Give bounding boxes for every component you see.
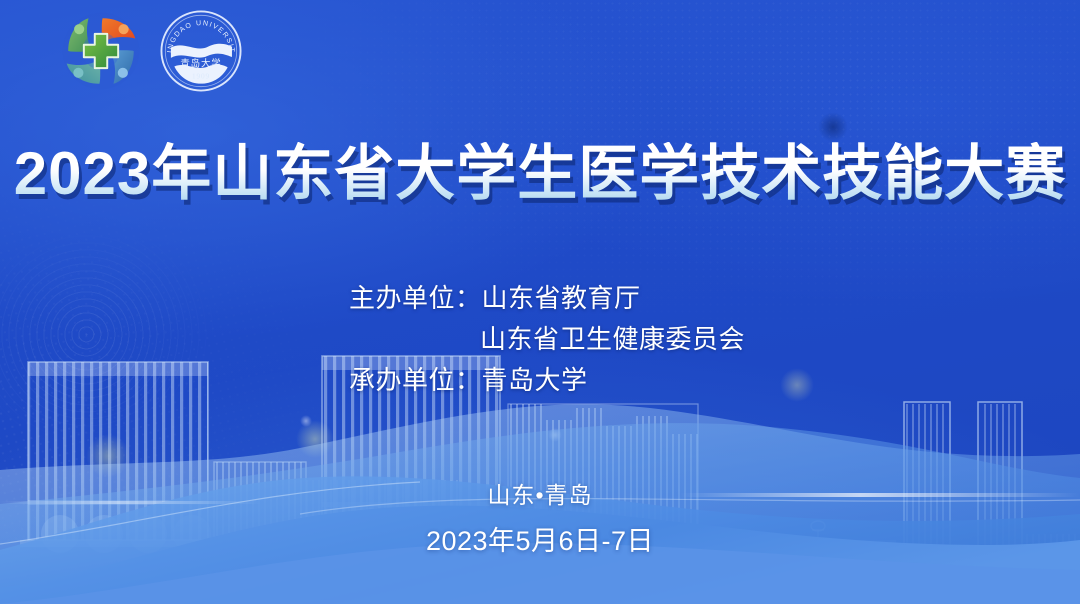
event-dates: 2023年5月6日-7日 xyxy=(0,519,1080,558)
organizer-value-host-2: 山东省卫生健康委员会 xyxy=(480,324,745,354)
organizer-block: 主办单位：山东省教育厅 山东省卫生健康委员会 承办单位：青岛大学 xyxy=(349,278,745,401)
event-location: 山东•青岛 xyxy=(0,476,1080,510)
organizer-row-host: 主办单位：山东省教育厅 xyxy=(349,278,745,319)
organizer-value-undertaker: 青岛大学 xyxy=(482,365,588,395)
medical-skills-competition-emblem xyxy=(62,12,140,90)
organizer-value-host: 山东省教育厅 xyxy=(482,283,641,313)
logo-group: QINGDAO UNIVERSITY 青岛大学 1909 xyxy=(62,8,244,94)
footer-block: 山东•青岛 2023年5月6日-7日 xyxy=(0,476,1080,558)
university-founding-year: 1909 xyxy=(192,72,210,81)
organizer-label-host: 主办单位： xyxy=(349,283,482,313)
organizer-label-undertaker: 承办单位： xyxy=(349,365,482,395)
organizer-row-undertaker: 承办单位：青岛大学 xyxy=(349,360,745,401)
page-title: 2023年山东省大学生医学技术技能大赛 xyxy=(0,142,1080,207)
university-chinese-name: 青岛大学 xyxy=(180,57,221,69)
organizer-row-host-2: 山东省卫生健康委员会 xyxy=(349,319,745,360)
wave-band-upper xyxy=(171,44,232,58)
poster-canvas: QINGDAO UNIVERSITY 青岛大学 1909 2023年山东省大学生… xyxy=(0,0,1080,604)
qingdao-university-emblem: QINGDAO UNIVERSITY 青岛大学 1909 xyxy=(158,8,244,94)
